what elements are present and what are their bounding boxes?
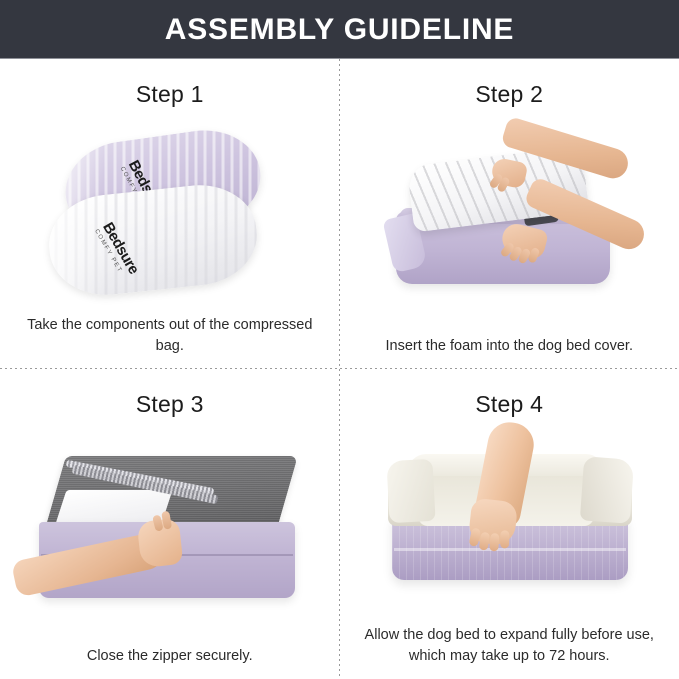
header-bar: ASSEMBLY GUIDELINE bbox=[0, 0, 679, 59]
step-3-figure bbox=[18, 416, 322, 646]
step-card-3: Step 3 Close the zipper securely. bbox=[0, 369, 340, 679]
step-1-title: Step 1 bbox=[136, 83, 204, 106]
step-2-caption: Insert the foam into the dog bed cover. bbox=[358, 336, 662, 369]
compressed-rolls-illustration: Bedsure COMFY PET Bedsure COMFY PET bbox=[35, 128, 305, 293]
step-2-title: Step 2 bbox=[475, 83, 543, 106]
step-card-1: Step 1 Bedsure COMFY PET Bedsure COMFY P… bbox=[0, 59, 340, 369]
step-4-title: Step 4 bbox=[475, 393, 543, 416]
left-bolster-shape bbox=[387, 459, 436, 523]
insert-foam-illustration bbox=[374, 138, 644, 303]
close-zipper-illustration bbox=[35, 448, 305, 613]
base-seam-shape bbox=[394, 548, 626, 551]
finger-shape bbox=[500, 530, 509, 548]
step-1-figure: Bedsure COMFY PET Bedsure COMFY PET bbox=[18, 106, 322, 315]
step-card-2: Step 2 bbox=[340, 59, 679, 369]
step-card-4: Step 4 bbox=[340, 369, 679, 679]
step-3-caption: Close the zipper securely. bbox=[18, 646, 322, 679]
step-1-caption: Take the components out of the compresse… bbox=[18, 315, 322, 369]
steps-grid: Step 1 Bedsure COMFY PET Bedsure COMFY P… bbox=[0, 59, 679, 679]
horizontal-divider bbox=[0, 368, 679, 369]
step-3-title: Step 3 bbox=[136, 393, 204, 416]
step-4-figure bbox=[358, 416, 662, 625]
step-2-figure bbox=[358, 106, 662, 336]
expanded-bed-illustration bbox=[374, 438, 644, 603]
step-4-caption: Allow the dog bed to expand fully before… bbox=[358, 625, 662, 679]
vertical-divider bbox=[339, 59, 340, 679]
page-title: ASSEMBLY GUIDELINE bbox=[165, 15, 514, 45]
right-bolster-shape bbox=[580, 456, 634, 523]
